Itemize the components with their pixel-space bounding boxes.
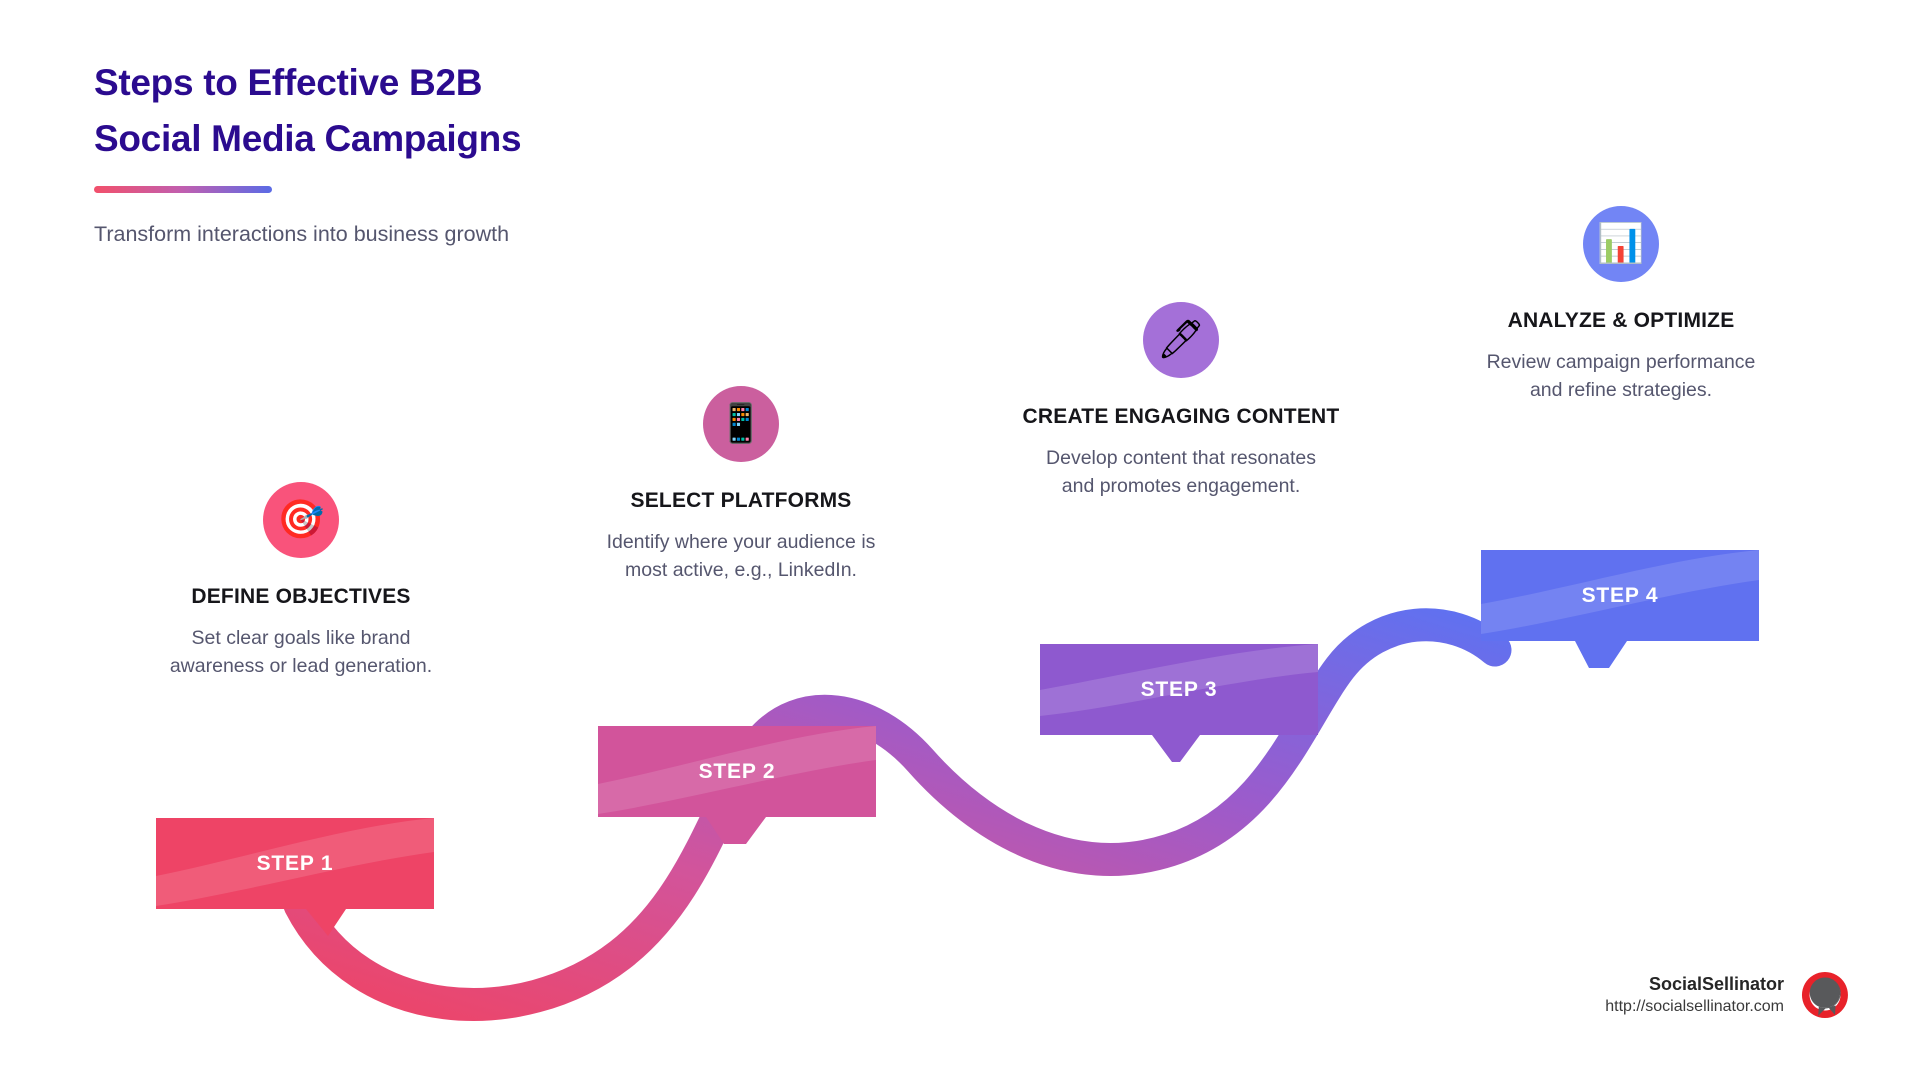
step-2-title: SELECT PLATFORMS [576,488,906,515]
page-subtitle: Transform interactions into business gro… [94,219,534,250]
step-2-banner[interactable]: STEP 2 [598,726,876,813]
step-4-title: ANALYZE & OPTIMIZE [1456,308,1786,335]
socialsellinator-logo-icon [1798,968,1852,1022]
bar-chart-icon: 📊 [1597,225,1644,263]
step-1-banner-label: STEP 1 [156,818,434,909]
page-title-line-1: Steps to Effective B2B [94,55,734,111]
step-2-description: Identify where your audience is most act… [576,528,906,585]
brand-url[interactable]: http://socialsellinator.com [1605,996,1784,1018]
step-3-description: Develop content that resonates and promo… [1016,444,1346,501]
step-column-4: 📊 ANALYZE & OPTIMIZE Review campaign per… [1456,206,1786,404]
step-4-banner[interactable]: STEP 4 [1481,550,1759,637]
step-2-icon-circle: 📱 [703,386,779,462]
step-1-banner[interactable]: STEP 1 [156,818,434,905]
step-1-description: Set clear goals like brand awareness or … [136,624,466,681]
step-3-icon-circle: 🖊 [1143,302,1219,378]
step-4-icon-circle: 📊 [1583,206,1659,282]
step-2-banner-label: STEP 2 [598,726,876,817]
step-3-banner-label: STEP 3 [1040,644,1318,735]
step-column-2: 📱 SELECT PLATFORMS Identify where your a… [576,386,906,584]
brand-logo-block[interactable]: SocialSellinator http://socialsellinator… [1605,968,1852,1022]
mobile-phone-icon: 📱 [717,405,764,443]
header: Steps to Effective B2B Social Media Camp… [94,55,734,250]
brand-name: SocialSellinator [1605,972,1784,996]
step-3-title: CREATE ENGAGING CONTENT [1016,404,1346,431]
step-1-title: DEFINE OBJECTIVES [136,584,466,611]
infographic-canvas: Steps to Effective B2B Social Media Camp… [0,0,1920,1080]
pen-icon: 🖊 [1157,321,1205,359]
step-column-1: 🎯 DEFINE OBJECTIVES Set clear goals like… [136,482,466,680]
step-1-icon-circle: 🎯 [263,482,339,558]
step-column-3: 🖊 CREATE ENGAGING CONTENT Develop conten… [1016,302,1346,500]
step-4-description: Review campaign performance and refine s… [1456,348,1786,405]
brand-text: SocialSellinator http://socialsellinator… [1605,972,1784,1018]
accent-divider [94,186,272,193]
step-3-banner[interactable]: STEP 3 [1040,644,1318,731]
page-title-line-2: Social Media Campaigns [94,111,734,167]
target-dart-icon: 🎯 [277,501,324,539]
step-4-banner-label: STEP 4 [1481,550,1759,641]
